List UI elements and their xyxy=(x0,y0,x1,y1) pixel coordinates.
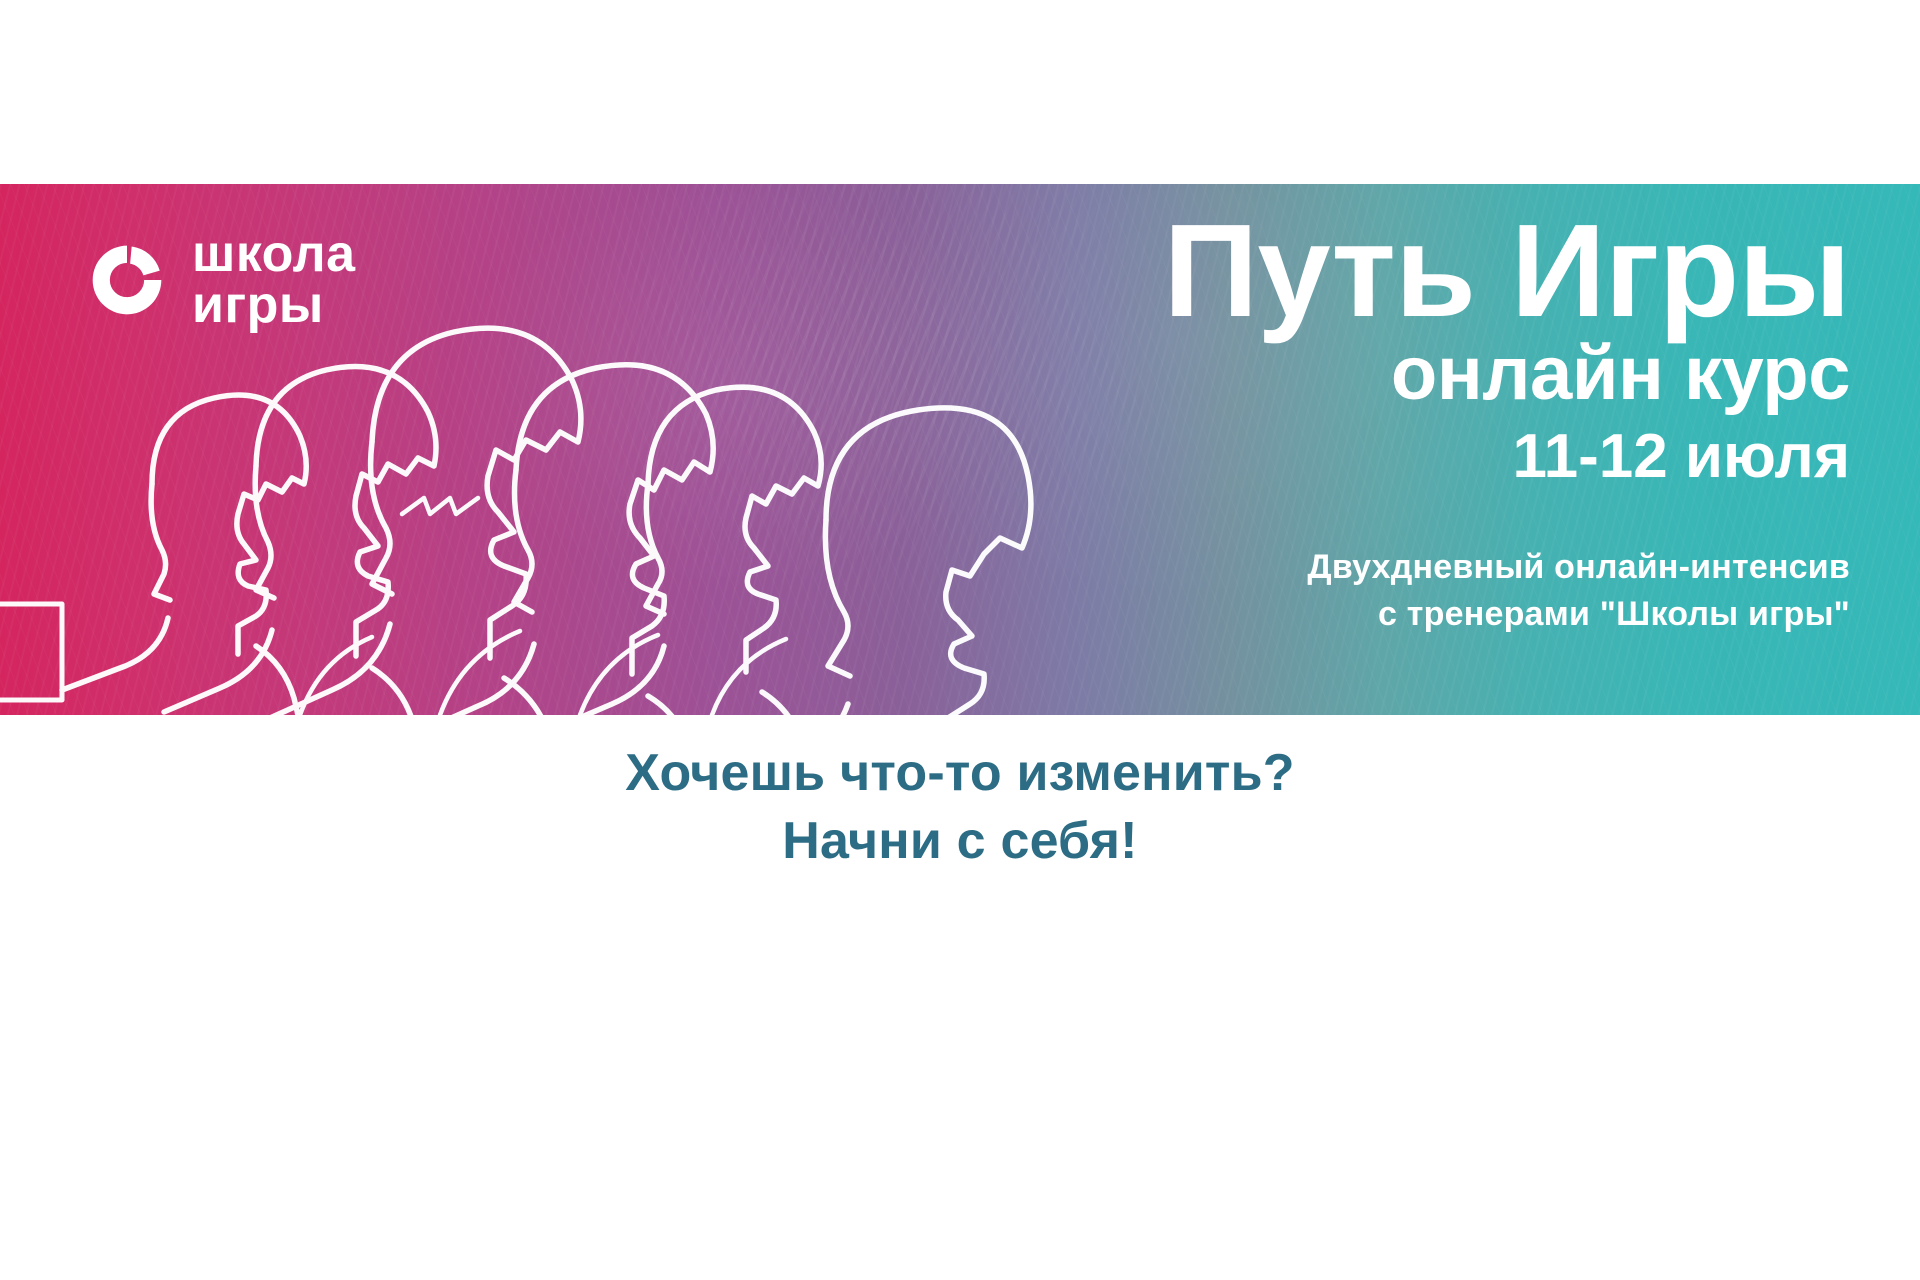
tagline: Хочешь что-то изменить? Начни с себя! xyxy=(0,740,1920,875)
tagline-line1: Хочешь что-то изменить? xyxy=(0,740,1920,808)
promo-banner: школа игры Путь Игры онлайн курс 11-12 и… xyxy=(0,184,1920,715)
brand-logo: школа игры xyxy=(88,229,356,331)
banner-description-line1: Двухдневный онлайн-интенсив xyxy=(950,544,1850,591)
ring-gap-icon xyxy=(88,241,166,319)
banner-copy: Путь Игры онлайн курс 11-12 июля Двухдне… xyxy=(950,210,1850,638)
banner-subtitle: онлайн курс xyxy=(950,335,1850,413)
banner-headline: Путь Игры xyxy=(950,210,1850,331)
banner-description-line2: с тренерами "Школы игры" xyxy=(950,591,1850,638)
brand-logo-line2: игры xyxy=(192,280,356,331)
brand-logo-line1: школа xyxy=(192,229,356,280)
banner-description: Двухдневный онлайн-интенсив с тренерами … xyxy=(950,544,1850,638)
tagline-line2: Начни с себя! xyxy=(0,808,1920,876)
brand-logo-wordmark: школа игры xyxy=(192,229,356,331)
banner-date: 11-12 июля xyxy=(950,425,1850,488)
